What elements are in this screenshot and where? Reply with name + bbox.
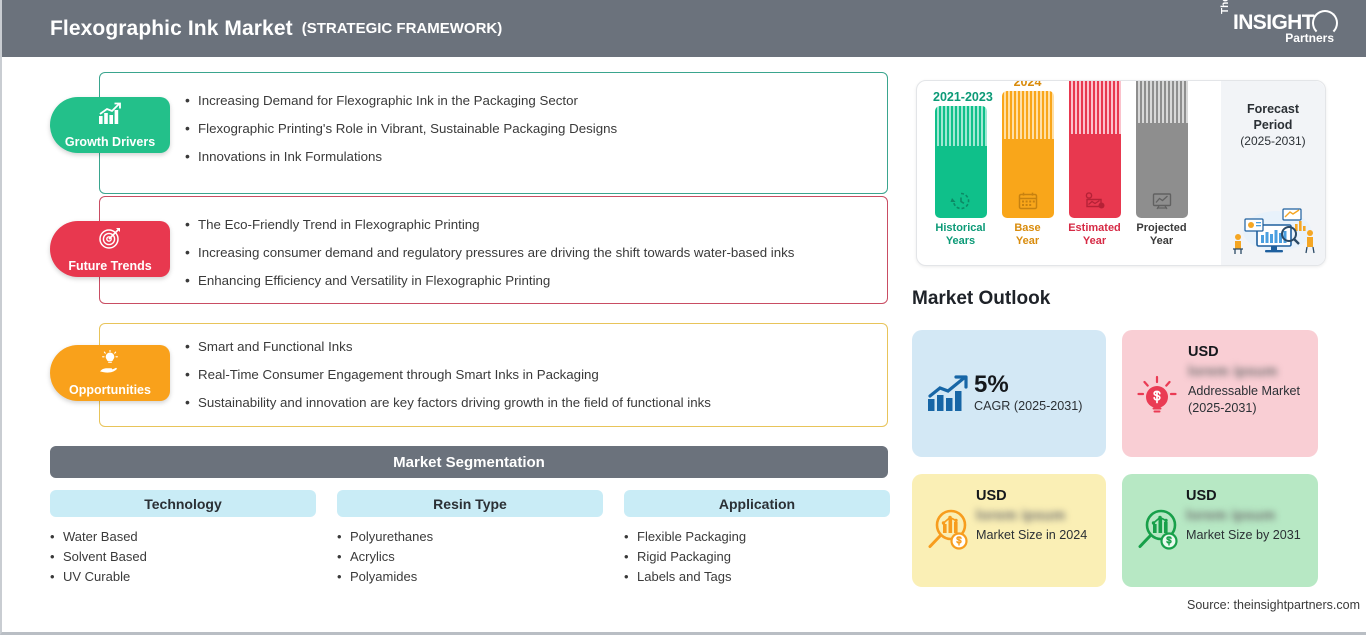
list-item: UV Curable [50, 567, 316, 587]
market-size-2031-value: lorem ipsum [1186, 507, 1276, 526]
market-outlook-title: Market Outlook [912, 288, 1050, 310]
list-item: Rigid Packaging [624, 547, 890, 567]
forecast-line-2: Period [1221, 117, 1325, 133]
timeline-bar-solid [1002, 139, 1054, 218]
usd-label: USD [1188, 344, 1312, 361]
list-item: Flexible Packaging [624, 527, 890, 547]
data-analysis-illustration [1227, 201, 1319, 259]
addressable-market-caption: Addressable Market (2025-2031) [1188, 383, 1312, 417]
timeline-caption: Estimated [1067, 222, 1122, 235]
pill-opportunities[interactable]: Opportunities [50, 345, 170, 401]
market-size-2024-value: lorem ipsum [976, 507, 1066, 526]
market-size-2024-caption: Market Size in 2024 [976, 527, 1100, 544]
chart-monitor-icon [1151, 191, 1173, 211]
timeline-item-projected: 2031 Projected [1134, 80, 1189, 247]
lightbulb-dollar-icon [1136, 374, 1178, 421]
bullet-item: Innovations in Ink Formulations [198, 149, 870, 165]
forecast-line-3: (2025-2031) [1221, 133, 1325, 149]
timeline-bar-stripe [1069, 80, 1121, 134]
forecast-line-1: Forecast [1221, 101, 1325, 117]
bullet-item: Flexographic Printing's Role in Vibrant,… [198, 121, 870, 137]
growth-drivers-bullets: Increasing Demand for Flexographic Ink i… [198, 93, 870, 177]
usd-label: USD [976, 488, 1100, 505]
timeline-bars: 2021-2023 Historical [933, 81, 1183, 266]
bullet-item: Smart and Functional Inks [198, 339, 870, 355]
page-title: Flexographic Ink Market [50, 17, 293, 41]
timeline-year: 2024 [1000, 80, 1055, 89]
bullet-item: Increasing Demand for Flexographic Ink i… [198, 93, 870, 109]
timeline-caption: Base [1000, 222, 1055, 235]
forecast-period-panel: Forecast Period (2025-2031) [1221, 81, 1325, 266]
pill-label: Future Trends [68, 259, 151, 273]
outlook-card-cagr[interactable]: 5% CAGR (2025-2031) [912, 330, 1106, 457]
pill-label: Opportunities [69, 383, 151, 397]
timeline-bar [1136, 80, 1188, 218]
forecast-analytics-icon [1084, 191, 1106, 211]
page-subtitle: (STRATEGIC FRAMEWORK) [302, 20, 503, 37]
pill-future-trends[interactable]: Future Trends [50, 221, 170, 277]
clock-history-icon [950, 191, 972, 211]
segmentation-column-technology: Technology Water Based Solvent Based UV … [50, 490, 316, 587]
bullet-item: The Eco-Friendly Trend in Flexographic P… [198, 217, 870, 233]
insight-partners-logo: The INSIGHT Partners [1220, 9, 1340, 51]
usd-label: USD [1186, 488, 1310, 505]
timeline-bar-solid [1136, 123, 1188, 218]
logo-partners-text: Partners [1285, 31, 1334, 45]
timeline-bar [935, 106, 987, 218]
timeline-caption-2: Years [933, 235, 988, 248]
timeline-caption-2: Year [1000, 235, 1055, 248]
segmentation-list: Flexible Packaging Rigid Packaging Label… [624, 527, 890, 587]
pill-label: Growth Drivers [65, 135, 155, 149]
bullet-item: Real-Time Consumer Engagement through Sm… [198, 367, 870, 383]
pill-growth-drivers[interactable]: Growth Drivers [50, 97, 170, 153]
addressable-market-value: lorem ipsum [1188, 363, 1278, 382]
timeline-bar-stripe [1136, 80, 1188, 123]
segmentation-column-title: Resin Type [337, 490, 603, 517]
cagr-value: 5% [974, 372, 1100, 398]
list-item: Labels and Tags [624, 567, 890, 587]
bar-chart-arrow-icon [926, 375, 972, 418]
list-item: Polyamides [337, 567, 603, 587]
timeline-bar-stripe [1002, 91, 1054, 139]
timeline-bar-stripe [935, 106, 987, 146]
timeline-item-estimated: 2025 E [1067, 80, 1122, 247]
segmentation-column-title: Application [624, 490, 890, 517]
segmentation-column-application: Application Flexible Packaging Rigid Pac… [624, 490, 890, 587]
calendar-icon [1017, 191, 1039, 211]
right-column: 2021-2023 Historical [902, 57, 1366, 635]
outlook-card-addressable-market[interactable]: USD lorem ipsum Addressable Market (2025… [1122, 330, 1318, 457]
timeline-bar [1069, 80, 1121, 218]
segmentation-list: Polyurethanes Acrylics Polyamides [337, 527, 603, 587]
bullet-item: Enhancing Efficiency and Versatility in … [198, 273, 870, 289]
timeline-caption: Projected [1134, 222, 1189, 235]
timeline-caption-2: Year [1134, 235, 1189, 248]
list-item: Solvent Based [50, 547, 316, 567]
outlook-card-market-size-2031[interactable]: USD lorem ipsum Market Size by 2031 [1122, 474, 1318, 587]
timeline-caption-2: Year [1067, 235, 1122, 248]
timeline-bar-solid [1069, 134, 1121, 218]
magnifier-chart-dollar-icon [1136, 506, 1182, 557]
timeline-item-base: 2024 B [1000, 80, 1055, 247]
bullet-item: Increasing consumer demand and regulator… [198, 245, 870, 261]
segmentation-column-resin-type: Resin Type Polyurethanes Acrylics Polyam… [337, 490, 603, 587]
timeline-caption: Historical [933, 222, 988, 235]
outlook-card-market-size-2024[interactable]: USD lorem ipsum Market Size in 2024 [912, 474, 1106, 587]
timeline-bar-solid [935, 146, 987, 218]
timeline-item-historical: 2021-2023 Historical [933, 90, 988, 247]
bullet-item: Sustainability and innovation are key fa… [198, 395, 870, 411]
page-header: Flexographic Ink Market (STRATEGIC FRAME… [2, 0, 1366, 57]
cagr-caption: CAGR (2025-2031) [974, 398, 1100, 415]
source-label: Source: theinsightpartners.com [1187, 598, 1360, 612]
timeline-bar [1002, 91, 1054, 218]
logo-the-text: The [1220, 0, 1231, 14]
list-item: Polyurethanes [337, 527, 603, 547]
magnifier-chart-dollar-icon [926, 506, 972, 557]
bar-chart-growth-icon [97, 102, 123, 126]
list-item: Water Based [50, 527, 316, 547]
segmentation-column-title: Technology [50, 490, 316, 517]
list-item: Acrylics [337, 547, 603, 567]
future-trends-bullets: The Eco-Friendly Trend in Flexographic P… [198, 217, 870, 301]
timeline-card: 2021-2023 Historical [916, 80, 1326, 266]
market-size-2031-caption: Market Size by 2031 [1186, 527, 1310, 544]
lightbulb-hand-icon [97, 350, 123, 374]
target-dart-icon [97, 226, 123, 250]
timeline-year: 2021-2023 [933, 90, 988, 104]
market-segmentation-header: Market Segmentation [50, 446, 888, 478]
segmentation-list: Water Based Solvent Based UV Curable [50, 527, 316, 587]
opportunities-bullets: Smart and Functional Inks Real-Time Cons… [198, 339, 870, 423]
